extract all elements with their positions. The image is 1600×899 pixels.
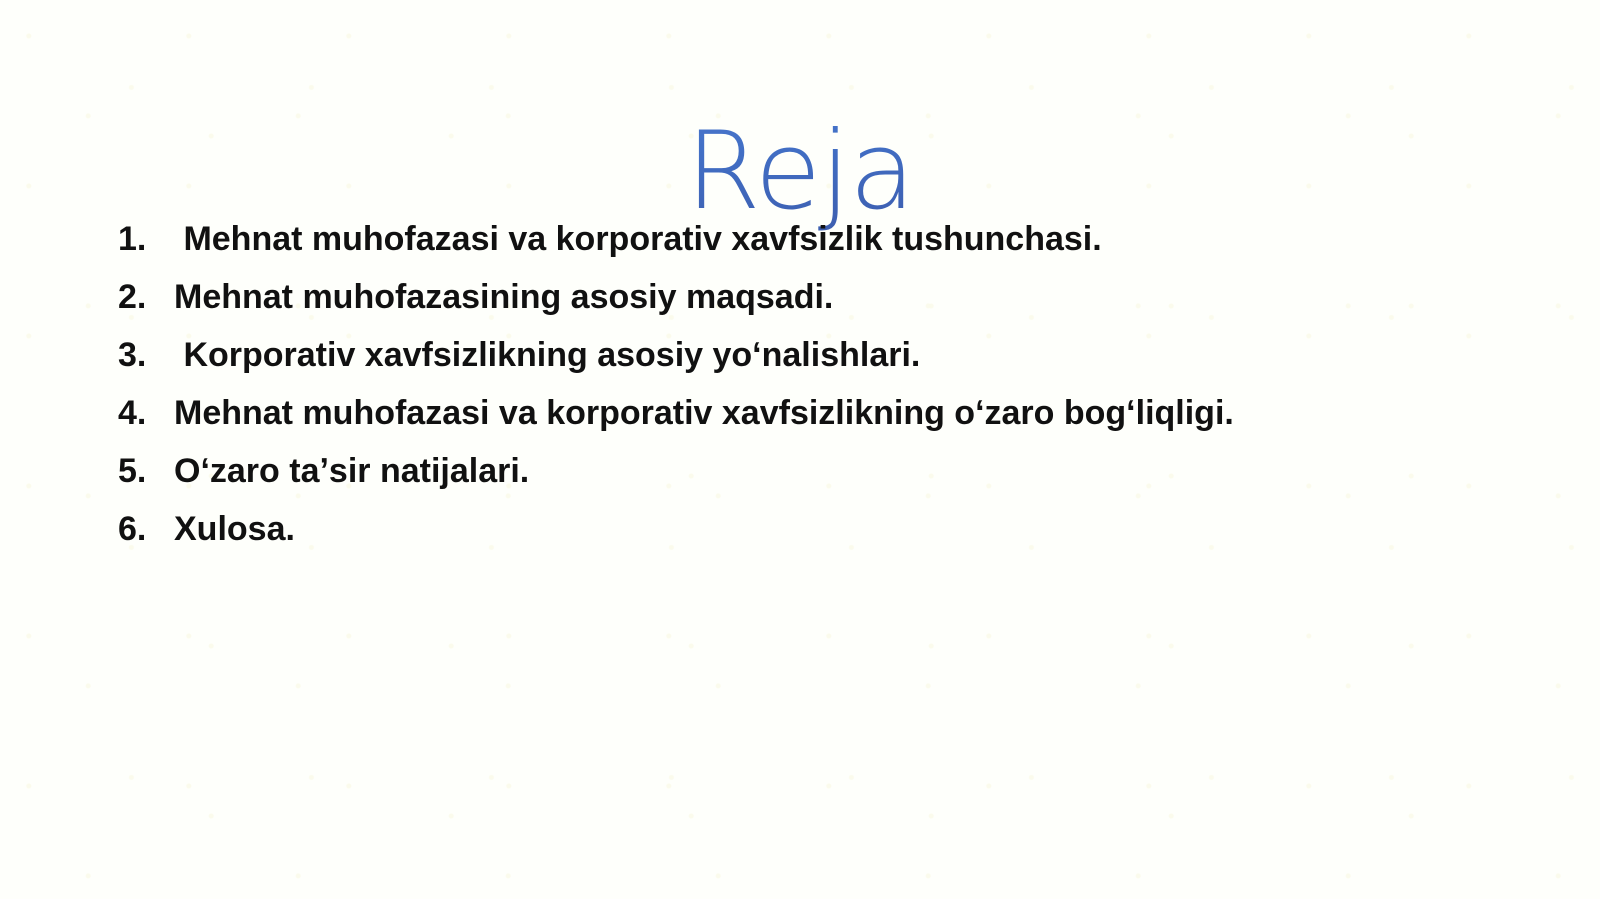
- list-item-number: 2.: [118, 268, 174, 326]
- list-item-label: Mehnat muhofazasi va korporativ xavfsizl…: [174, 210, 1102, 268]
- list-item: 4. Mehnat muhofazasi va korporativ xavfs…: [0, 384, 1600, 442]
- list-item-number: 5.: [118, 442, 174, 500]
- list-item-label: Oʻzaro taʼsir natijalari.: [174, 442, 529, 500]
- list-item-number: 4.: [118, 384, 174, 442]
- list-item-label: Korporativ xavfsizlikning asosiy yoʻnali…: [174, 326, 920, 384]
- list-item: 3. Korporativ xavfsizlikning asosiy yoʻn…: [0, 326, 1600, 384]
- list-item: 5. Oʻzaro taʼsir natijalari.: [0, 442, 1600, 500]
- list-item: 1. Mehnat muhofazasi va korporativ xavfs…: [0, 210, 1600, 268]
- presentation-slide: Reja 1. Mehnat muhofazasi va korporativ …: [0, 0, 1600, 899]
- list-item: 6. Xulosa.: [0, 500, 1600, 558]
- list-item-number: 3.: [118, 326, 174, 384]
- list-item-label: Xulosa.: [174, 500, 295, 558]
- list-item-label: Mehnat muhofazasining asosiy maqsadi.: [174, 268, 833, 326]
- list-item-label: Mehnat muhofazasi va korporativ xavfsizl…: [174, 384, 1234, 442]
- agenda-list: 1. Mehnat muhofazasi va korporativ xavfs…: [0, 210, 1600, 558]
- list-item-number: 6.: [118, 500, 174, 558]
- list-item: 2. Mehnat muhofazasining asosiy maqsadi.: [0, 268, 1600, 326]
- list-item-number: 1.: [118, 210, 174, 268]
